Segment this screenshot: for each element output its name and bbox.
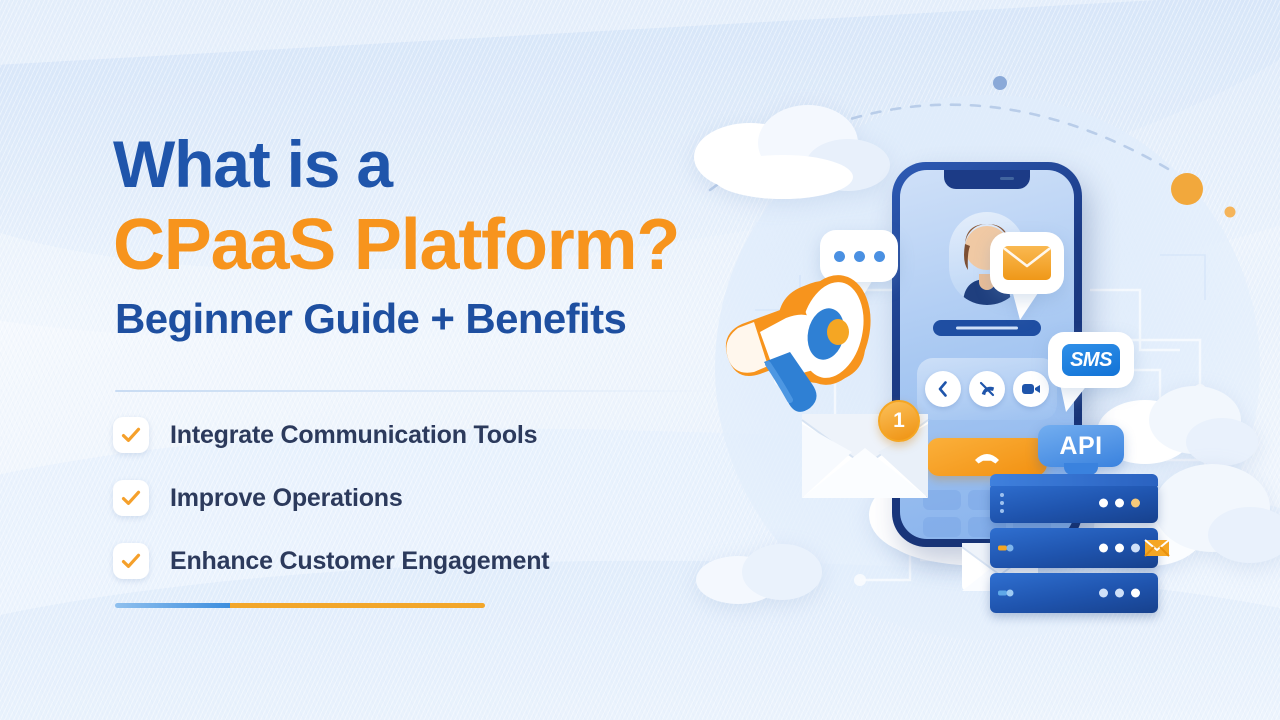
accent-bar-orange-segment <box>230 603 485 608</box>
server-stack-icon: API <box>990 425 1180 615</box>
server-layer <box>990 528 1158 568</box>
call-icon[interactable] <box>925 371 961 407</box>
cloud-icon <box>690 530 840 610</box>
keypad-key <box>923 517 961 537</box>
email-bubble <box>990 232 1064 294</box>
api-badge: API <box>1038 425 1124 467</box>
server-top-face <box>990 474 1158 486</box>
check-icon <box>113 480 149 516</box>
network-icon <box>998 588 1014 599</box>
megaphone-icon <box>708 258 898 418</box>
envelope-icon <box>1144 538 1170 558</box>
email-bubble-tail <box>1012 290 1040 320</box>
call-end-icon[interactable] <box>969 371 1005 407</box>
video-icon[interactable] <box>1013 371 1049 407</box>
sms-label: SMS <box>1062 344 1120 376</box>
server-side-dots <box>1000 493 1004 513</box>
list-item: Integrate Communication Tools <box>113 417 549 453</box>
envelope-icon <box>1002 245 1052 281</box>
list-item-label: Enhance Customer Engagement <box>170 547 549 576</box>
plug-icon <box>998 543 1014 554</box>
list-item: Enhance Customer Engagement <box>113 543 549 579</box>
server-leds <box>1099 544 1140 553</box>
sms-bubble: SMS <box>1048 332 1134 388</box>
accent-bar-blue-segment <box>115 603 230 608</box>
cloud-icon <box>688 95 898 203</box>
server-layer <box>990 573 1158 613</box>
list-item-label: Improve Operations <box>170 484 403 513</box>
server-layer <box>990 483 1158 523</box>
list-item-label: Integrate Communication Tools <box>170 421 537 450</box>
check-icon <box>113 543 149 579</box>
section-divider <box>115 390 715 392</box>
sms-bubble-tail <box>1060 384 1088 412</box>
list-item: Improve Operations <box>113 480 549 516</box>
notification-badge: 1 <box>878 400 920 442</box>
server-leds <box>1099 589 1140 598</box>
accent-bar <box>115 603 485 608</box>
call-actions-panel <box>917 358 1057 420</box>
benefits-checklist: Integrate Communication Tools Improve Op… <box>113 417 549 579</box>
check-icon <box>113 417 149 453</box>
server-leds <box>1099 499 1140 508</box>
phone-notch <box>944 170 1030 189</box>
banner-canvas: What is a CPaaS Platform? Beginner Guide… <box>0 0 1280 720</box>
hero-illustration: SMS 1 <box>660 40 1280 700</box>
contact-name-bar <box>933 320 1041 336</box>
